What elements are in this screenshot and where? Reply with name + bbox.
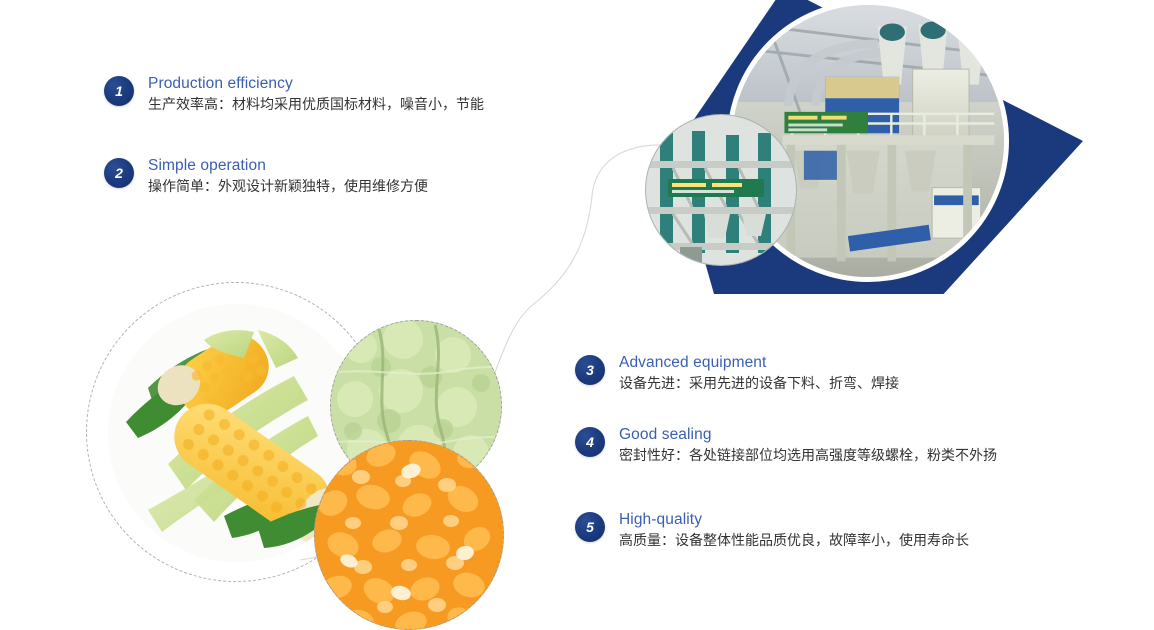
green-milling-machinery-photo [645,114,797,266]
feature-item-5[interactable]: 5 High-quality 高质量：设备整体性能品质优良，故障率小，使用寿命长 [575,510,969,551]
feature-number-badge-2: 2 [104,158,134,188]
feature-number-badge-3: 3 [575,355,605,385]
feature-desc-4: 密封性好：各处链接部位均选用高强度等级螺栓，粉类不外扬 [619,445,997,466]
feature-number-badge-1: 1 [104,76,134,106]
feature-desc-3: 设备先进：采用先进的设备下料、折弯、焊接 [619,373,899,394]
feature-text-4: Good sealing 密封性好：各处链接部位均选用高强度等级螺栓，粉类不外扬 [619,425,997,466]
feature-title-5: High-quality [619,510,969,529]
feature-desc-1: 生产效率高：材料均采用优质国标材料，噪音小，节能 [148,94,484,115]
hero-image-group [655,0,1075,294]
feature-text-2: Simple operation 操作简单：外观设计新颖独特，使用维修方便 [148,156,428,197]
feature-item-3[interactable]: 3 Advanced equipment 设备先进：采用先进的设备下料、折弯、焊… [575,353,899,394]
feature-number-badge-5: 5 [575,512,605,542]
feature-text-3: Advanced equipment 设备先进：采用先进的设备下料、折弯、焊接 [619,353,899,394]
feature-title-1: Production efficiency [148,74,484,93]
feature-desc-5: 高质量：设备整体性能品质优良，故障率小，使用寿命长 [619,530,969,551]
feature-text-1: Production efficiency 生产效率高：材料均采用优质国标材料，… [148,74,484,115]
feature-item-1[interactable]: 1 Production efficiency 生产效率高：材料均采用优质国标材… [104,74,484,115]
feature-title-3: Advanced equipment [619,353,899,372]
product-image-group [80,278,500,608]
feature-title-2: Simple operation [148,156,428,175]
feature-item-4[interactable]: 4 Good sealing 密封性好：各处链接部位均选用高强度等级螺栓，粉类不… [575,425,997,466]
feature-title-4: Good sealing [619,425,997,444]
feature-text-5: High-quality 高质量：设备整体性能品质优良，故障率小，使用寿命长 [619,510,969,551]
orange-corn-grits-photo [314,440,504,630]
feature-desc-2: 操作简单：外观设计新颖独特，使用维修方便 [148,176,428,197]
feature-number-badge-4: 4 [575,427,605,457]
infographic-stage: 1 Production efficiency 生产效率高：材料均采用优质国标材… [0,0,1154,591]
feature-item-2[interactable]: 2 Simple operation 操作简单：外观设计新颖独特，使用维修方便 [104,156,428,197]
